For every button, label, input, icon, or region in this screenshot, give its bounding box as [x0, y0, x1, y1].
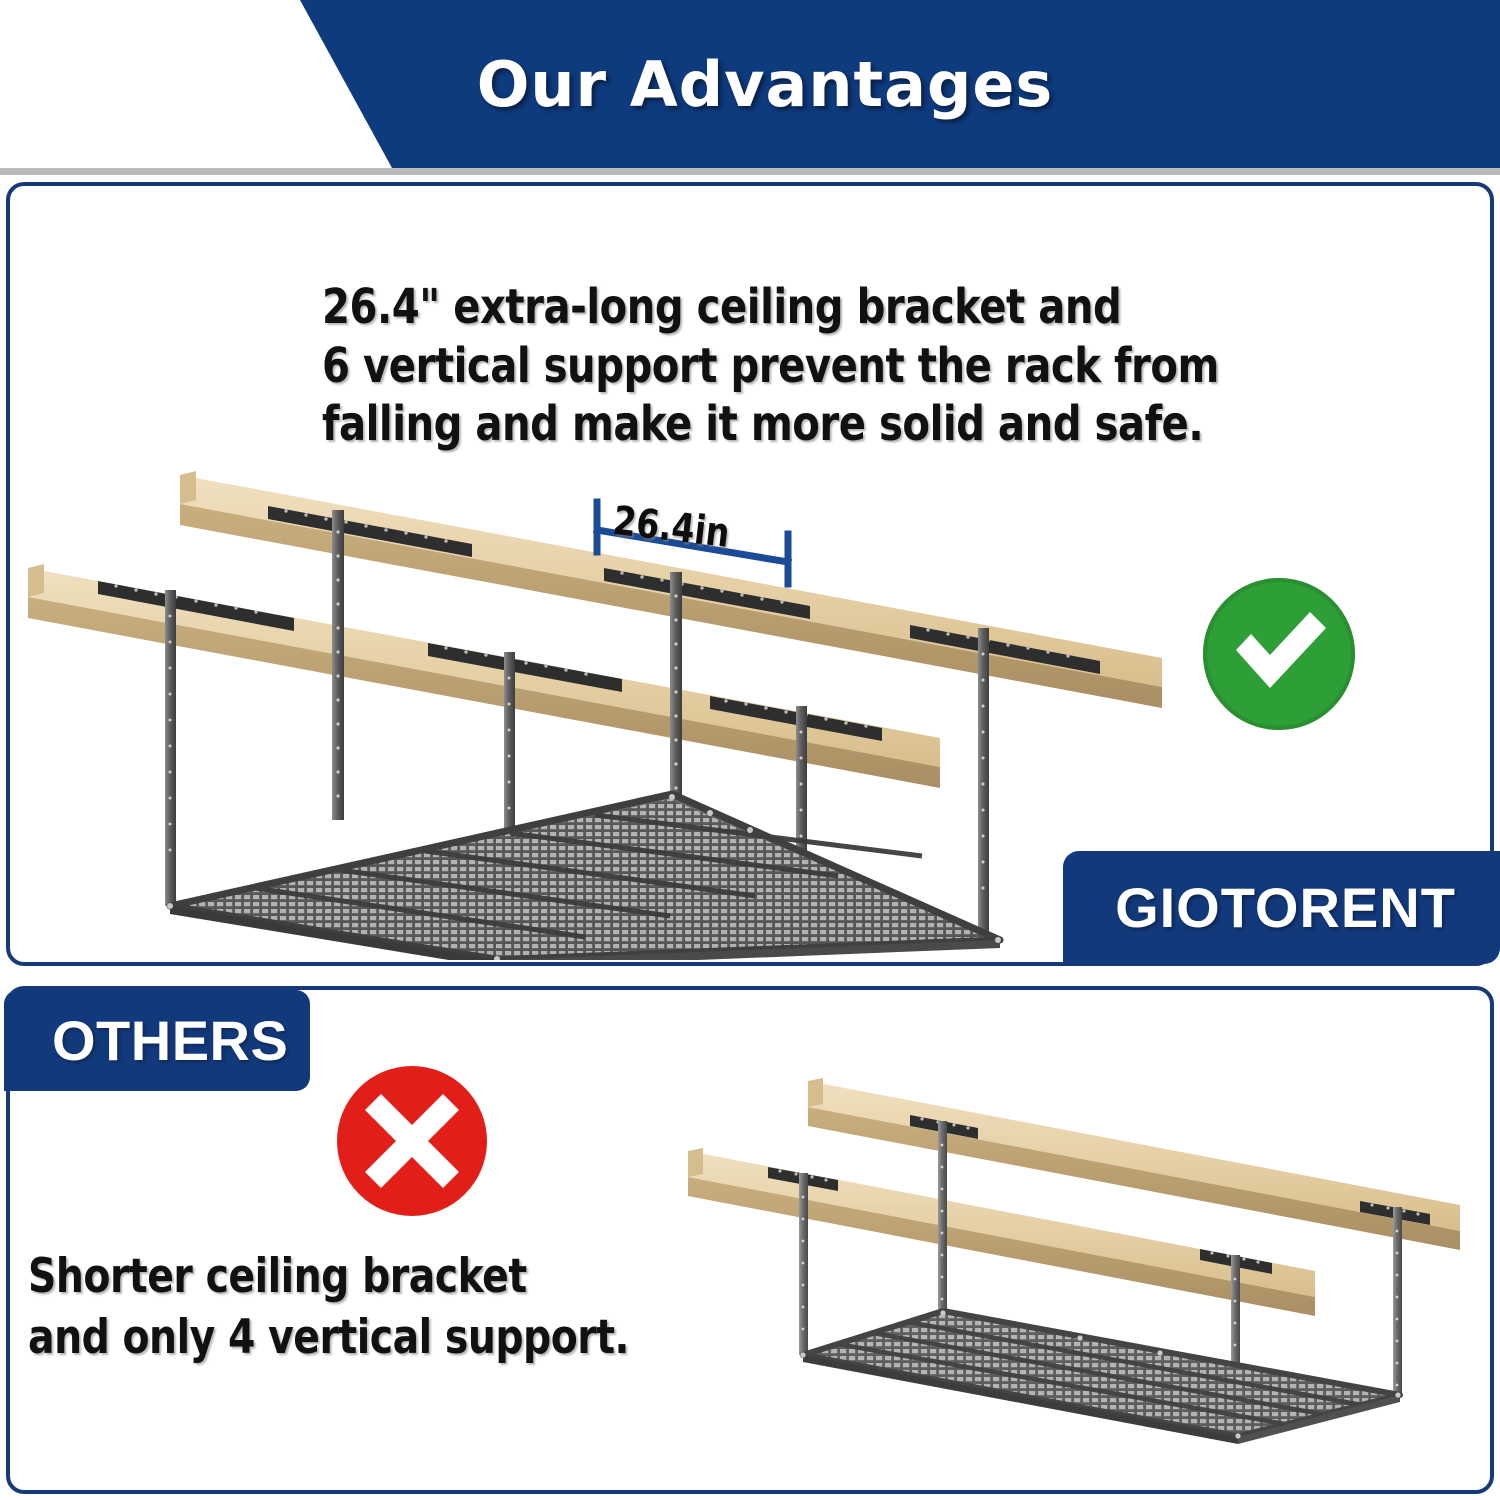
vertical-support-4: [165, 590, 176, 906]
header-banner: Our Advantages: [0, 0, 1500, 168]
vertical-support-b3: [799, 1173, 808, 1355]
others-badge: OTHERS: [4, 990, 310, 1091]
header-underline: [0, 168, 1500, 175]
vertical-support-1: [332, 510, 344, 820]
advantages-infographic: Our Advantages 26.4" extra-long ceiling …: [0, 0, 1500, 1500]
page-title: Our Advantages: [0, 0, 1500, 168]
product-image-competitor-rack: [660, 1055, 1490, 1475]
check-glyph: [1203, 578, 1355, 730]
headline-line-2: 6 vertical support prevent the rack from: [322, 337, 1401, 396]
wire-mesh-shelf-2: [800, 1310, 1400, 1444]
headline-line-1: 26.4" extra-long ceiling bracket and: [322, 278, 1401, 337]
x-glyph: [337, 1066, 487, 1216]
brand-name: GIOTORENT: [1107, 875, 1456, 940]
brand-badge-giotorent: GIOTORENT: [1063, 851, 1500, 964]
wire-mesh-shelf: [167, 794, 1001, 960]
others-label: OTHERS: [4, 1008, 288, 1073]
vertical-support-b2: [1393, 1207, 1402, 1395]
vertical-support-b1: [938, 1121, 947, 1311]
advantage-headline: 26.4" extra-long ceiling bracket and 6 v…: [322, 278, 1401, 454]
vertical-support-3: [978, 628, 989, 946]
